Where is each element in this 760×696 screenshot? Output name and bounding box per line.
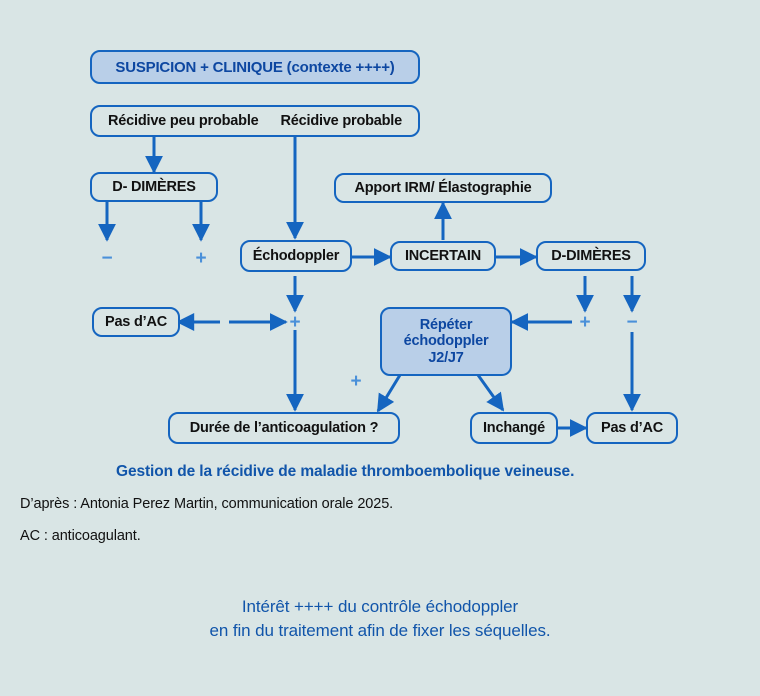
sign-ddimeres-left-plus: + bbox=[192, 249, 210, 268]
node-duree-label: Durée de l’anticoagulation ? bbox=[190, 420, 379, 436]
footnote-line-2: en fin du traitement afin de fixer les s… bbox=[0, 620, 760, 643]
node-incertain[interactable]: INCERTAIN bbox=[390, 241, 496, 271]
diagram-title: Gestion de la récidive de maladie thromb… bbox=[116, 463, 574, 481]
node-pas-dac-right[interactable]: Pas d’AC bbox=[586, 412, 678, 444]
node-inchange[interactable]: Inchangé bbox=[470, 412, 558, 444]
node-ddimeres-right[interactable]: D-DIMÈRES bbox=[536, 241, 646, 271]
sign-ddimeres-right-minus: − bbox=[623, 313, 641, 332]
node-ddimeres-right-label: D-DIMÈRES bbox=[551, 248, 631, 264]
sign-ddimeres-left-minus: − bbox=[98, 249, 116, 268]
edge-repeter-to-inchange bbox=[478, 375, 503, 410]
node-pas-dac-left[interactable]: Pas d’AC bbox=[92, 307, 180, 337]
node-duree-anticoagulation[interactable]: Durée de l’anticoagulation ? bbox=[168, 412, 400, 444]
sign-ddimeres-right-plus: + bbox=[576, 313, 594, 332]
sign-echodoppler-plus: + bbox=[286, 313, 304, 332]
node-repeter-line1: Répéter bbox=[420, 317, 473, 333]
credit-abbreviation: AC : anticoagulant. bbox=[20, 528, 141, 544]
edge-repeter-to-duree bbox=[378, 375, 400, 411]
node-suspicion[interactable]: SUSPICION + CLINIQUE (contexte ++++) bbox=[90, 50, 420, 84]
node-apport-irm[interactable]: Apport IRM/ Élastographie bbox=[334, 173, 552, 203]
node-ddimeres-left[interactable]: D- DIMÈRES bbox=[90, 172, 218, 202]
node-repeter-line3: J2/J7 bbox=[428, 350, 463, 366]
node-repeter-line2: échodoppler bbox=[404, 333, 489, 349]
node-recidive-row[interactable]: Récidive peu probable Récidive probable bbox=[90, 105, 420, 137]
sign-duree-plus: + bbox=[347, 372, 365, 391]
node-repeter-echodoppler[interactable]: Répéter échodoppler J2/J7 bbox=[380, 307, 512, 376]
node-echodoppler-label: Échodoppler bbox=[253, 248, 339, 264]
node-inchange-label: Inchangé bbox=[483, 420, 545, 436]
node-apport-irm-label: Apport IRM/ Élastographie bbox=[354, 180, 531, 196]
footnote-line-1: Intérêt ++++ du contrôle échodoppler bbox=[0, 596, 760, 619]
node-pas-dac-right-label: Pas d’AC bbox=[601, 420, 663, 436]
node-incertain-label: INCERTAIN bbox=[405, 248, 481, 264]
node-pas-dac-left-label: Pas d’AC bbox=[105, 314, 167, 330]
diagram-canvas: SUSPICION + CLINIQUE (contexte ++++) Réc… bbox=[0, 0, 760, 696]
node-suspicion-label: SUSPICION + CLINIQUE (contexte ++++) bbox=[115, 59, 394, 76]
node-recidive-probable-label: Récidive probable bbox=[277, 113, 407, 129]
node-ddimeres-left-label: D- DIMÈRES bbox=[112, 179, 195, 195]
node-recidive-peu-probable-label: Récidive peu probable bbox=[104, 113, 263, 129]
credit-source: D’après : Antonia Perez Martin, communic… bbox=[20, 496, 393, 512]
node-echodoppler[interactable]: Échodoppler bbox=[240, 240, 352, 272]
